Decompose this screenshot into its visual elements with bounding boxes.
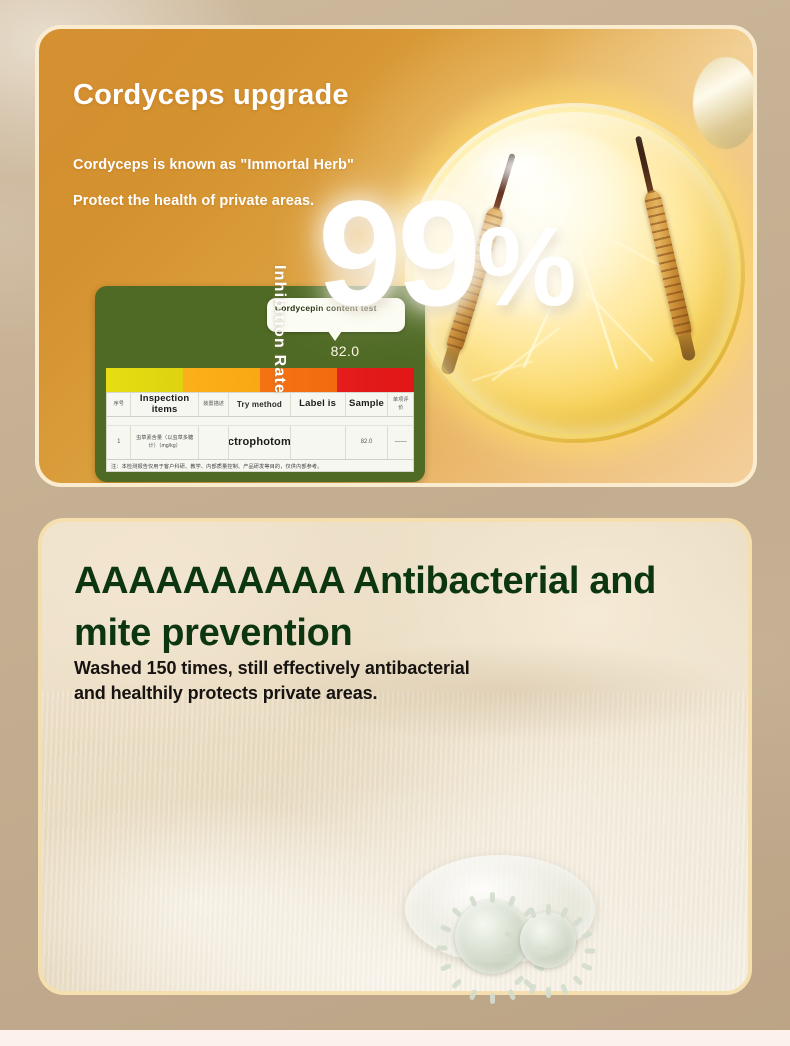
td-sample: 82.0 [346, 426, 389, 459]
virus-spike [546, 987, 551, 998]
card2-body-text: Washed 150 times, still effectively anti… [74, 656, 474, 706]
td-index: 1 [107, 426, 131, 459]
color-scale-bar [106, 368, 414, 392]
virus-spike [584, 949, 595, 954]
cordycepin-score: 82.0 [295, 343, 395, 359]
virus-particle-small [520, 912, 576, 968]
td-label-is [291, 426, 346, 459]
td-try-method: Spectrophotometry [229, 426, 290, 459]
lab-report-table: 序号 Inspection items 装置描述 Try method Labe… [106, 392, 414, 472]
percent-sign: % [477, 204, 575, 329]
scale-segment-4 [337, 368, 414, 392]
th-sample: Sample [346, 393, 389, 416]
virus-spike [490, 993, 495, 1004]
scale-segment-1 [106, 368, 183, 392]
th-device-desc: 装置描述 [199, 393, 230, 416]
inhibition-rate-value: 99% [318, 178, 574, 342]
card1-subtitle-2: Protect the health of private areas. [73, 193, 314, 209]
th-try-method: Try method [229, 393, 290, 416]
td-evaluation: —— [388, 426, 412, 459]
antibacterial-card: AAAAAAAAAA Antibacterial and mite preven… [38, 518, 752, 995]
virus-spike [436, 946, 447, 951]
card1-subtitle-1: Cordyceps is known as "Immortal Herb" [73, 157, 354, 173]
inhibition-rate-label: Inhibition Rate [270, 265, 288, 394]
virus-particle-large [455, 900, 529, 974]
th-index: 序号 [107, 393, 131, 416]
big-number: 99 [318, 169, 477, 337]
th-evaluation: 单项评价 [388, 393, 412, 416]
table-spacer-row [107, 417, 413, 426]
virus-spike [546, 904, 551, 915]
th-inspection-items: Inspection items [131, 393, 198, 416]
card2-title: AAAAAAAAAA Antibacterial and mite preven… [74, 555, 734, 659]
scale-segment-2 [183, 368, 260, 392]
bottom-strip [0, 1030, 790, 1046]
td-inspection-item: 虫草素含量（以虫草多糖计）（mg/kg） [131, 426, 198, 459]
table-footnote: 注：本检测报告仅用于客户科研、教学、内部质量控制、产品研发等目的，仅供内部参考。 [107, 460, 413, 472]
td-device-desc [199, 426, 230, 459]
th-label-is: Label is [291, 393, 346, 416]
table-row: 1 虫草素含量（以虫草多糖计）（mg/kg） Spectrophotometry… [107, 426, 413, 460]
card1-title: Cordyceps upgrade [73, 79, 349, 112]
table-header-row: 序号 Inspection items 装置描述 Try method Labe… [107, 393, 413, 417]
virus-spike [490, 892, 495, 903]
virus-spike [501, 949, 512, 954]
